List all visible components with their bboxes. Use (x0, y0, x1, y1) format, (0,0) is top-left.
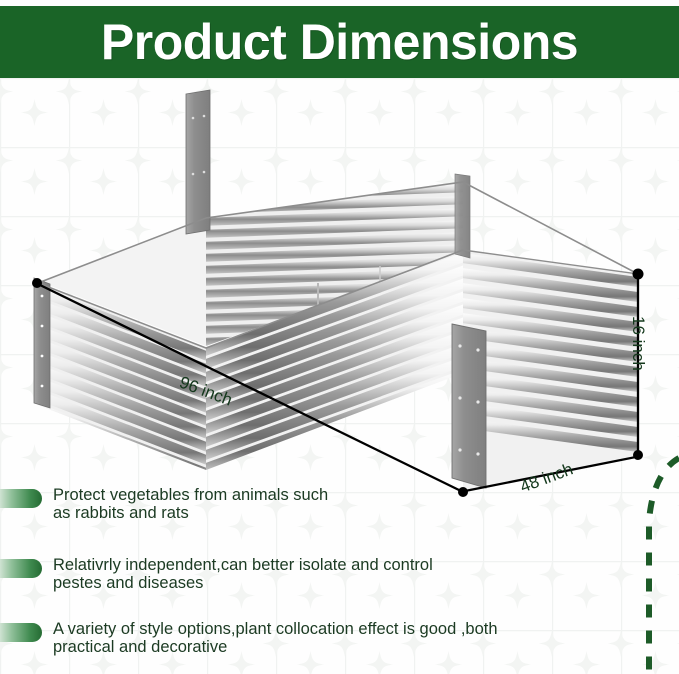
product-dimensions-infographic: Product Dimensions (0, 0, 679, 674)
product-illustration-raised-garden-bed (0, 78, 679, 508)
green-pill-bullet-icon (0, 623, 42, 642)
list-item: Protect vegetables from animals such as … (0, 486, 600, 523)
green-pill-bullet-icon (0, 559, 42, 578)
feature-list: Protect vegetables from animals such as … (0, 478, 679, 674)
feature-text: Relativrly independent,can better isolat… (53, 556, 433, 593)
dimension-label-height: 16 inch (628, 316, 648, 371)
feature-text: Protect vegetables from animals such as … (53, 486, 328, 523)
page-title: Product Dimensions (101, 17, 578, 67)
list-item: Relativrly independent,can better isolat… (0, 556, 600, 593)
header-banner: Product Dimensions (0, 6, 679, 78)
feature-text: A variety of style options,plant colloca… (53, 620, 498, 657)
list-item: A variety of style options,plant colloca… (0, 620, 600, 657)
green-pill-bullet-icon (0, 489, 42, 508)
